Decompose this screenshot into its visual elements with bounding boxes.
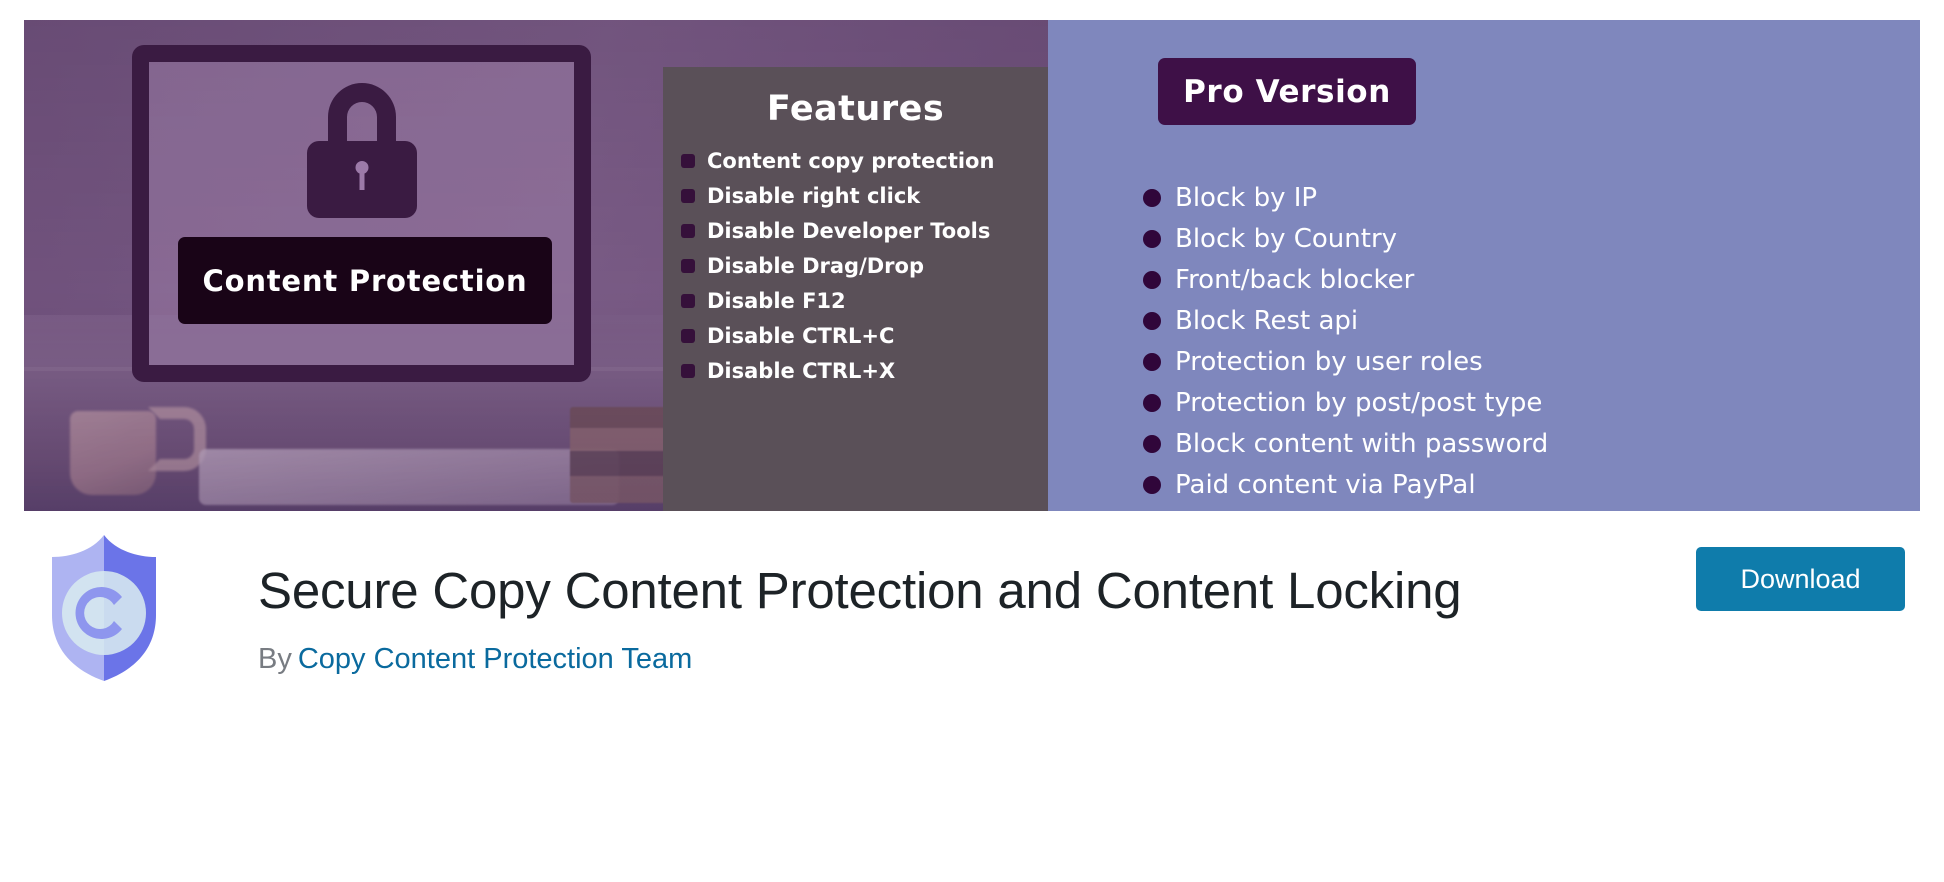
dot-bullet-icon [1143, 435, 1161, 453]
square-bullet-icon [681, 329, 695, 343]
pro-version-panel: Pro Version Block by IP Block by Country… [1048, 20, 1920, 511]
feature-item-label: Disable CTRL+C [707, 324, 894, 348]
pro-feature-item-label: Block by Country [1175, 224, 1397, 254]
dot-bullet-icon [1143, 189, 1161, 207]
feature-item-label: Disable F12 [707, 289, 846, 313]
square-bullet-icon [681, 364, 695, 378]
copyright-shield-icon [44, 533, 164, 683]
feature-item: Disable CTRL+C [681, 324, 1048, 348]
feature-item: Disable CTRL+X [681, 359, 1048, 383]
features-list: Content copy protection Disable right cl… [663, 149, 1048, 383]
dot-bullet-icon [1143, 271, 1161, 289]
pro-feature-item: Block by Country [1143, 224, 1548, 254]
pro-feature-item-label: Front/back blocker [1175, 265, 1414, 295]
pro-version-badge-label: Pro Version [1183, 74, 1391, 110]
pro-feature-item: Protection by user roles [1143, 347, 1548, 377]
features-title: Features [663, 89, 1048, 129]
feature-item: Disable F12 [681, 289, 1048, 313]
square-bullet-icon [681, 224, 695, 238]
padlock-icon [307, 83, 417, 218]
by-label: By [258, 643, 292, 675]
pro-feature-item: Block Rest api [1143, 306, 1548, 336]
pro-feature-item-label: Block content with password [1175, 429, 1548, 459]
feature-item: Disable Drag/Drop [681, 254, 1048, 278]
dot-bullet-icon [1143, 230, 1161, 248]
feature-item: Disable right click [681, 184, 1048, 208]
pro-version-badge: Pro Version [1158, 58, 1416, 125]
feature-item-label: Disable CTRL+X [707, 359, 895, 383]
page-title: Secure Copy Content Protection and Conte… [258, 561, 1461, 620]
feature-item-label: Disable Developer Tools [707, 219, 990, 243]
pro-feature-item-label: Protection by user roles [1175, 347, 1483, 377]
dot-bullet-icon [1143, 476, 1161, 494]
feature-item: Content copy protection [681, 149, 1048, 173]
pro-feature-item-label: Block by IP [1175, 183, 1317, 213]
feature-item: Disable Developer Tools [681, 219, 1048, 243]
download-button[interactable]: Download [1696, 547, 1905, 611]
pro-feature-item: Protection by post/post type [1143, 388, 1548, 418]
monitor-illustration: Content Protection [132, 45, 591, 382]
plugin-page: Content Protection Features Content copy… [0, 0, 1944, 882]
dot-bullet-icon [1143, 353, 1161, 371]
author-link[interactable]: Copy Content Protection Team [298, 643, 692, 675]
plugin-byline: ByCopy Content Protection Team [258, 643, 692, 676]
dot-bullet-icon [1143, 312, 1161, 330]
content-protection-label: Content Protection [178, 237, 552, 324]
feature-item-label: Disable Drag/Drop [707, 254, 924, 278]
pro-feature-item-label: Paid content via PayPal [1175, 470, 1476, 500]
content-protection-label-text: Content Protection [203, 264, 528, 298]
square-bullet-icon [681, 154, 695, 168]
square-bullet-icon [681, 259, 695, 273]
pro-feature-item: Block by IP [1143, 183, 1548, 213]
pro-feature-item-label: Protection by post/post type [1175, 388, 1542, 418]
pro-feature-item: Front/back blocker [1143, 265, 1548, 295]
pro-features-list: Block by IP Block by Country Front/back … [1143, 183, 1548, 511]
pro-feature-item: Block content with password [1143, 429, 1548, 459]
feature-item-label: Content copy protection [707, 149, 994, 173]
pro-feature-item-label: Block Rest api [1175, 306, 1358, 336]
square-bullet-icon [681, 189, 695, 203]
dot-bullet-icon [1143, 394, 1161, 412]
features-panel: Features Content copy protection Disable… [663, 67, 1048, 511]
plugin-banner: Content Protection Features Content copy… [24, 20, 1920, 511]
square-bullet-icon [681, 294, 695, 308]
plugin-header: Secure Copy Content Protection and Conte… [0, 511, 1944, 882]
feature-item-label: Disable right click [707, 184, 920, 208]
pro-feature-item: Paid content via PayPal [1143, 470, 1548, 500]
